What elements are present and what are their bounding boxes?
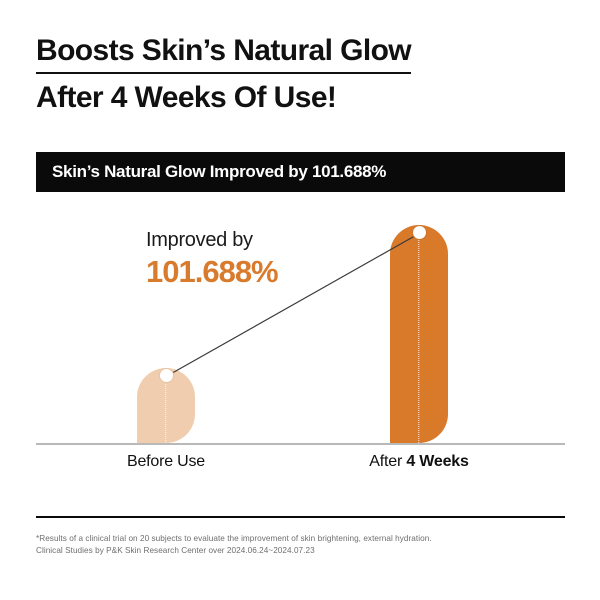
x-axis-label-after-bold: 4 Weeks xyxy=(406,453,468,470)
x-axis-label-before-use: Before Use xyxy=(116,453,216,471)
x-axis-label-after-4-weeks: After 4 Weeks xyxy=(359,453,479,471)
marker-after-4-weeks xyxy=(412,225,427,240)
headline-line-1-wrap: Boosts Skin’s Natural Glow xyxy=(36,32,566,74)
chart-x-axis-labels: Before Use After 4 Weeks xyxy=(0,453,600,481)
improvement-annotation-value: 101.688% xyxy=(146,254,278,290)
improvement-annotation: Improved by 101.688% xyxy=(146,228,278,290)
chart-baseline-axis xyxy=(36,443,565,445)
footnote-block: *Results of a clinical trial on 20 subje… xyxy=(36,533,556,557)
comparison-chart: Improved by 101.688% Before Use After 4 … xyxy=(0,200,600,450)
bar-before-dotted-line xyxy=(165,378,166,443)
bar-after-dotted-line xyxy=(418,235,419,443)
x-axis-label-after-prefix: After xyxy=(369,453,406,470)
trend-connector-line xyxy=(0,200,600,450)
bar-after-4-weeks xyxy=(390,225,448,443)
promo-infographic: Boosts Skin’s Natural Glow After 4 Weeks… xyxy=(0,0,600,600)
improvement-annotation-label: Improved by xyxy=(146,228,278,252)
result-banner: Skin’s Natural Glow Improved by 101.688% xyxy=(36,152,565,192)
headline-block: Boosts Skin’s Natural Glow After 4 Weeks… xyxy=(36,32,566,117)
headline-line-2: After 4 Weeks Of Use! xyxy=(36,79,566,117)
marker-before-use xyxy=(159,368,174,383)
headline-line-1: Boosts Skin’s Natural Glow xyxy=(36,32,411,74)
footnote-line-1: *Results of a clinical trial on 20 subje… xyxy=(36,533,556,545)
result-banner-text: Skin’s Natural Glow Improved by 101.688% xyxy=(52,162,386,182)
footer-divider xyxy=(36,516,565,518)
footnote-line-2: Clinical Studies by P&K Skin Research Ce… xyxy=(36,545,556,557)
